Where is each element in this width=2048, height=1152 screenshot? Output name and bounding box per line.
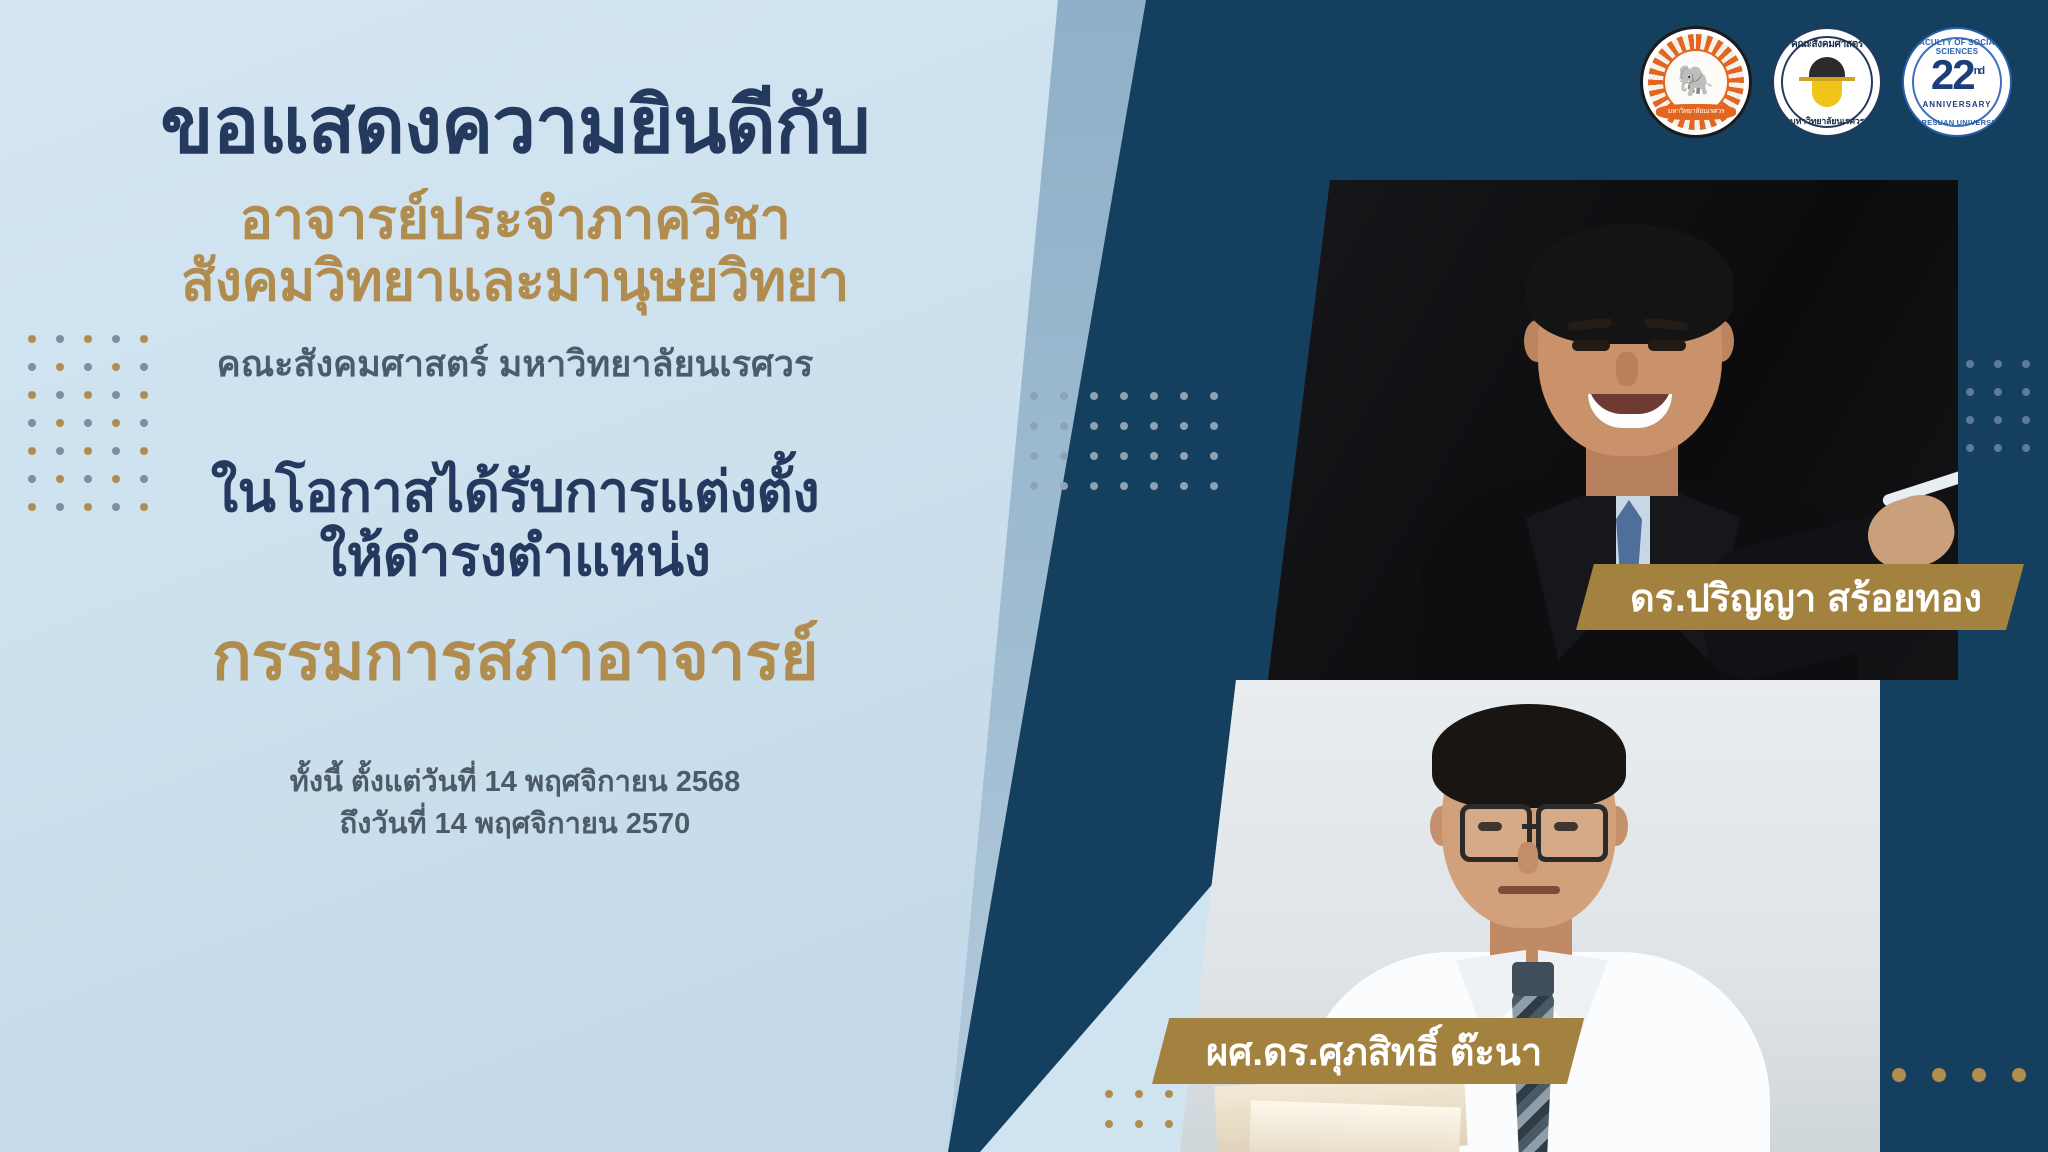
dot [1030,422,1038,430]
person-1-name-badge: ดร.ปริญญา สร้อยทอง [1576,564,2024,630]
faculty-seal-bottom-text: มหาวิทยาลัยนเรศวร [1774,114,1880,128]
dot [1090,482,1098,490]
headline: ขอแสดงความยินดีกับ [160,86,869,166]
dot [1060,452,1068,460]
dot [1994,388,2002,396]
dot [1060,422,1068,430]
dot [1210,452,1218,460]
person2-tie-knot [1512,962,1554,996]
dot [1090,422,1098,430]
person-2-name: ผศ.ดร.ศุภสิทธิ์ ต๊ะนา [1206,1021,1542,1082]
anniversary-badge-icon: FACULTY OF SOCIAL SCIENCES 22nd ANNIVERS… [1902,27,2012,137]
dot [1994,444,2002,452]
occasion-text: ในโอกาสได้รับการแต่งตั้ง ให้ดำรงตำแหน่ง [211,460,819,588]
dot [1210,422,1218,430]
person-2-name-badge: ผศ.ดร.ศุภสิทธิ์ ต๊ะนา [1152,1018,1584,1084]
dot [1150,392,1158,400]
dot [1150,452,1158,460]
faculty-name: คณะสังคมศาสตร์ มหาวิทยาลัยนเรศวร [217,335,814,392]
department-title: อาจารย์ประจำภาควิชา สังคมวิทยาและมานุษยว… [181,188,849,313]
congratulation-banner: 🐘 มหาวิทยาลัยนเรศวร คณะสังคมศาสตร์ มหาวิ… [0,0,2048,1152]
dot [1180,422,1188,430]
anniversary-number: 22nd [1931,54,1983,96]
dot [1180,482,1188,490]
dot [1966,416,1974,424]
dot [1966,388,1974,396]
occasion-line-1: ในโอกาสได้รับการแต่งตั้ง [211,460,819,523]
seal-band-text: มหาวิทยาลัยนเรศวร [1656,104,1737,120]
dot [1120,392,1128,400]
anniversary-ordinal: nd [1974,65,1983,77]
dot [1210,482,1218,490]
naresuan-university-seal-icon: 🐘 มหาวิทยาลัยนเรศวร [1640,26,1752,138]
dot [1972,1068,1986,1082]
person2-papers-2 [1249,1100,1461,1152]
dot [2012,1068,2026,1082]
dot [1030,482,1038,490]
dot [1090,392,1098,400]
dot [1105,1120,1113,1128]
dot [1120,422,1128,430]
dot [2022,388,2030,396]
dot [1060,392,1068,400]
dot [1165,1090,1173,1098]
dot [1892,1068,1906,1082]
dot [1966,444,1974,452]
elephant-icon: 🐘 [1677,67,1714,97]
date-line-2: ถึงวันที่ 14 พฤศจิกายน 2570 [290,803,741,845]
dot [1105,1090,1113,1098]
dot [1932,1068,1946,1082]
person2-hair [1432,704,1626,808]
faculty-seal-top-text: คณะสังคมศาสตร์ [1774,37,1880,52]
dot [1090,452,1098,460]
dot [1966,360,1974,368]
dot [1165,1120,1173,1128]
dot [1060,482,1068,490]
anniversary-number-value: 22 [1931,51,1974,98]
dot [1994,360,2002,368]
dot [1030,392,1038,400]
dot [1210,392,1218,400]
faculty-of-social-sciences-seal-icon: คณะสังคมศาสตร์ มหาวิทยาลัยนเรศวร [1772,27,1882,137]
dot [1994,416,2002,424]
department-line-2: สังคมวิทยาและมานุษยวิทยา [181,250,849,313]
person1-hair [1526,224,1734,344]
dot [1180,392,1188,400]
occasion-line-2: ให้ดำรงตำแหน่ง [211,524,819,588]
dot [1120,482,1128,490]
dot [1150,482,1158,490]
dot-grid-middle [1030,392,1218,490]
dot [1180,452,1188,460]
glasses-right-lens-icon [1536,804,1608,862]
department-line-1: อาจารย์ประจำภาควิชา [240,187,791,250]
text-column: ขอแสดงความยินดีกับ อาจารย์ประจำภาควิชา ส… [0,0,1030,1152]
dot [1030,452,1038,460]
date-line-1: ทั้งนี้ ตั้งแต่วันที่ 14 พฤศจิกายน 2568 [290,761,741,803]
position-title: กรรมการสภาอาจารย์ [212,604,818,709]
dot [2022,360,2030,368]
person-1-name: ดร.ปริญญา สร้อยทอง [1630,567,1982,628]
dot [1135,1090,1143,1098]
dot [2022,416,2030,424]
dot [1150,422,1158,430]
dot [1135,1120,1143,1128]
dot [2022,444,2030,452]
logo-row: 🐘 มหาวิทยาลัยนเรศวร คณะสังคมศาสตร์ มหาวิ… [1640,26,2012,138]
effective-dates: ทั้งนี้ ตั้งแต่วันที่ 14 พฤศจิกายน 2568 … [290,761,741,845]
anniversary-bottom-text: NARESUAN UNIVERSITY [1904,118,2010,127]
dot [1120,452,1128,460]
